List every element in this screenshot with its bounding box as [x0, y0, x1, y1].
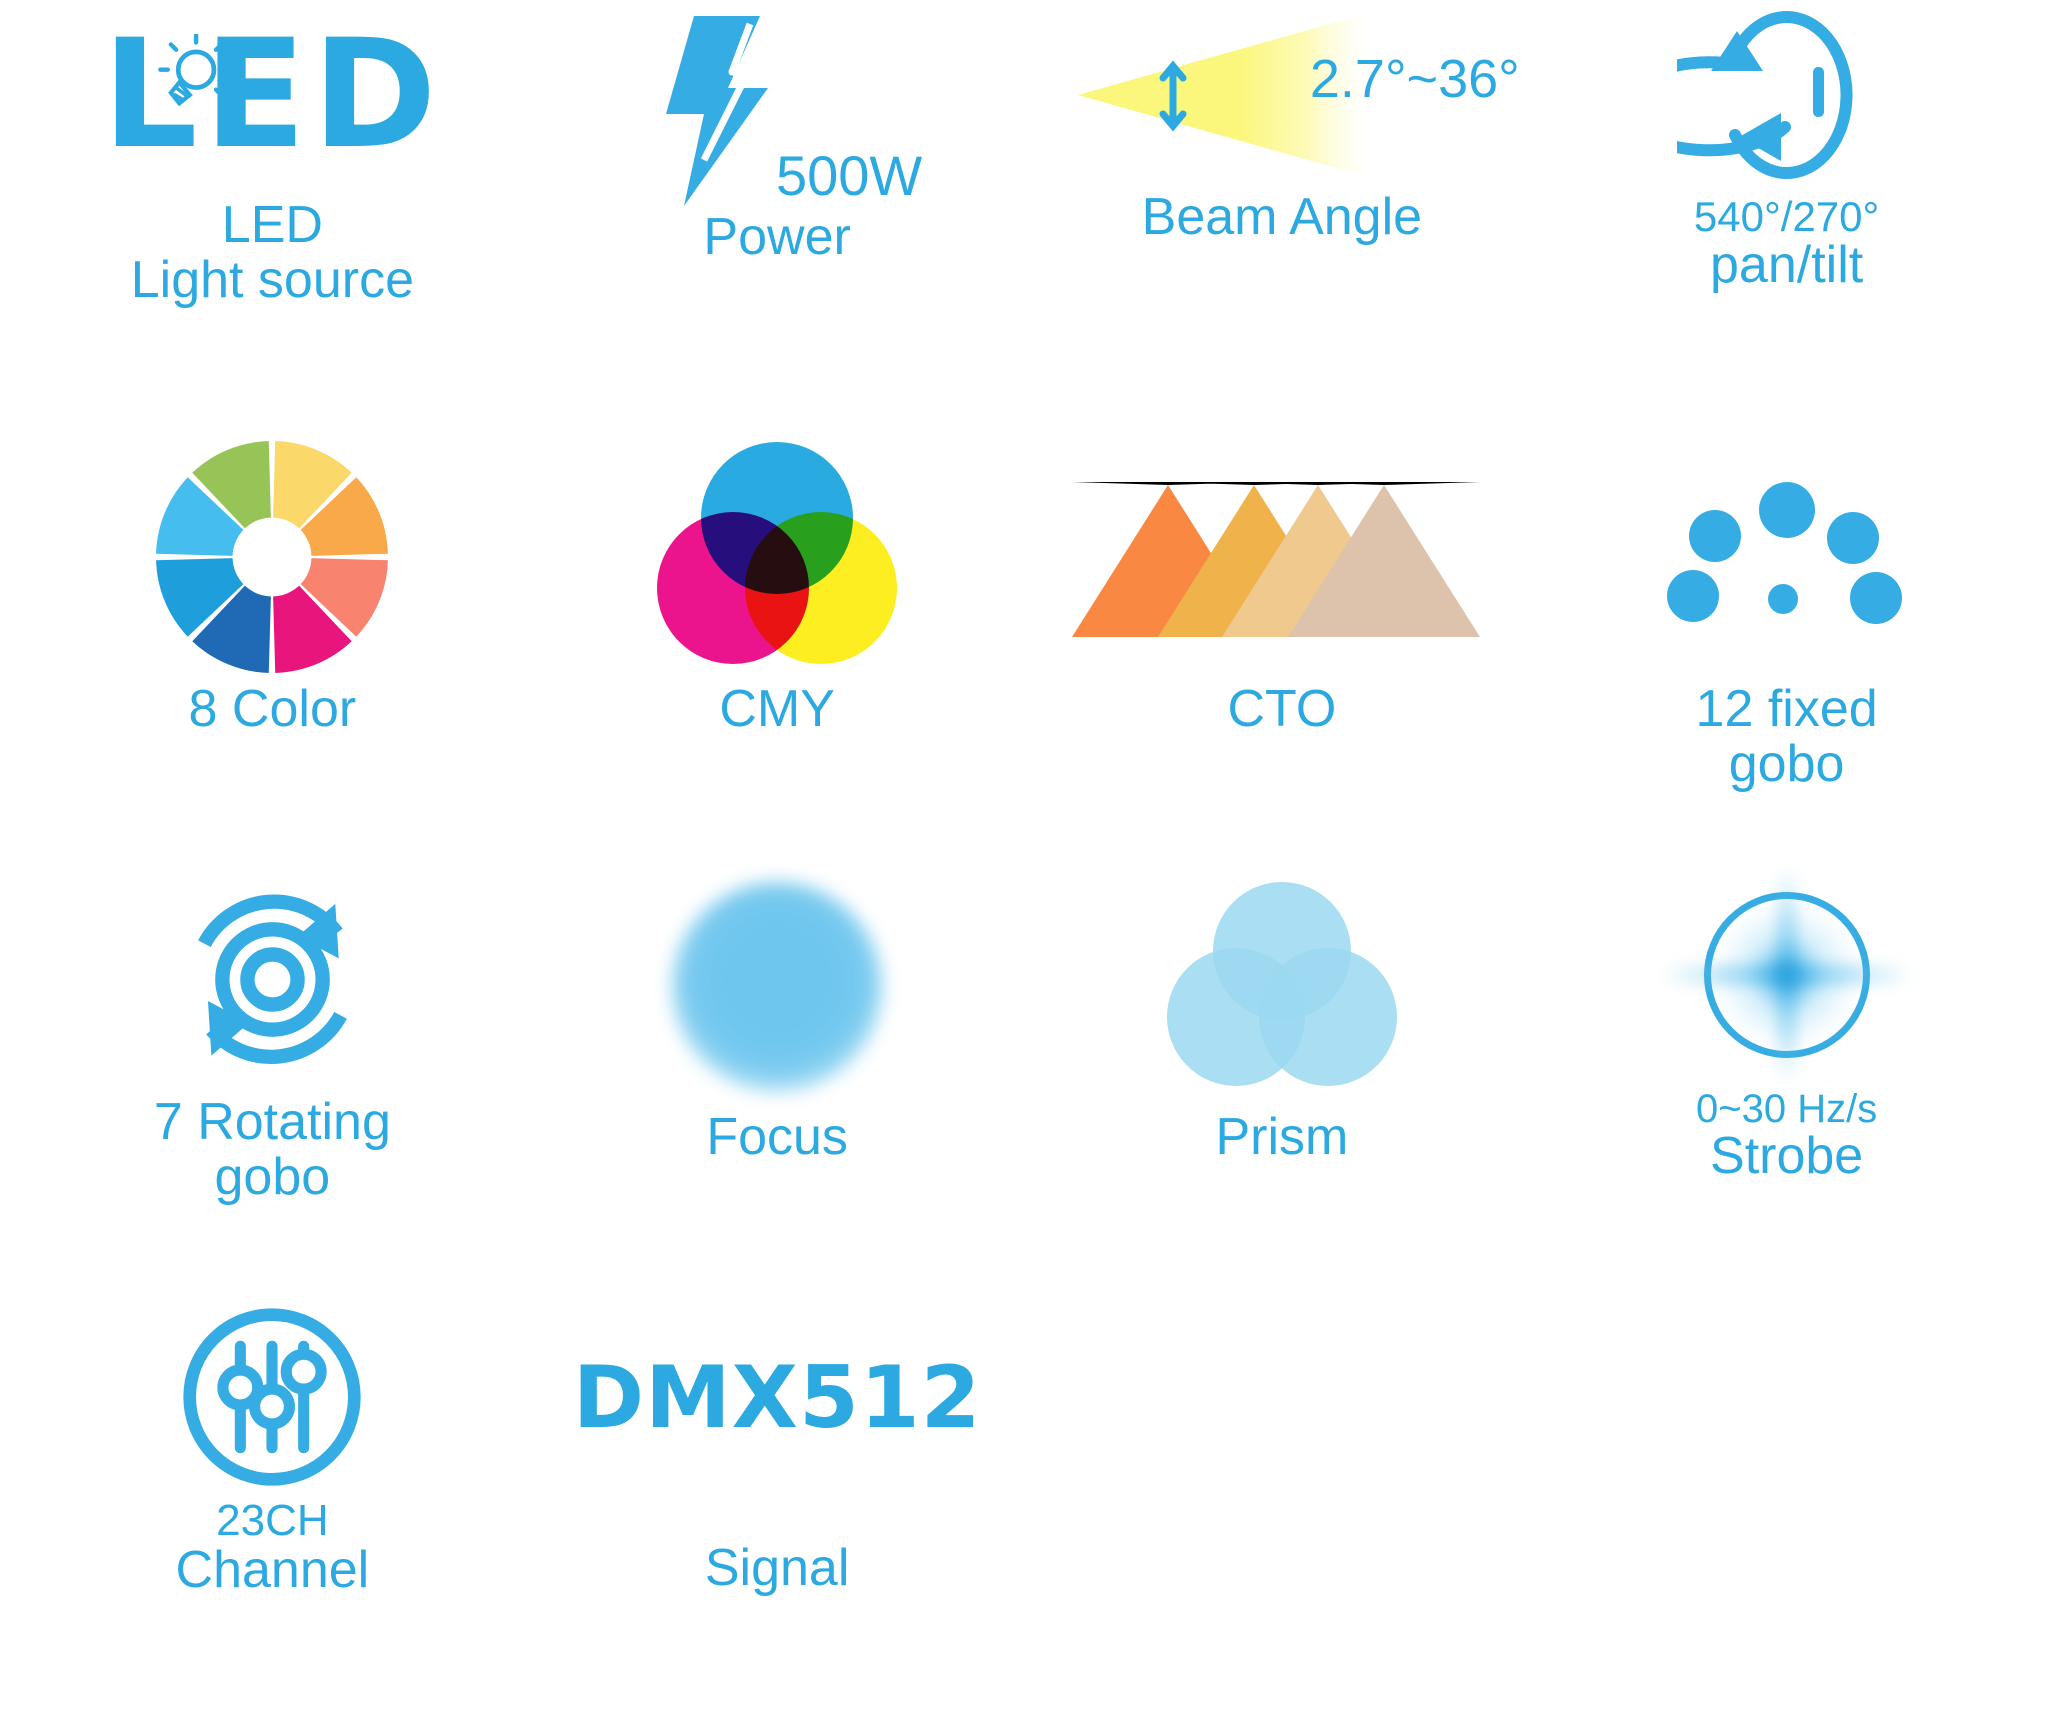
spec-cell-fixed-gobo: 12 fixed gobo	[1534, 432, 2039, 864]
spec-label-prism: Prism	[1215, 1110, 1348, 1165]
spec-cell-rotating-gobo: 7 Rotating gobo	[20, 865, 525, 1297]
spec-cell-color-wheel: 8 Color	[20, 432, 525, 864]
spec-label-cmy: CMY	[719, 682, 835, 737]
spec-label-fixed-gobo: 12 fixed gobo	[1696, 682, 1878, 792]
dmx-text-icon: DMX512	[573, 1355, 982, 1441]
spec-label-pan-tilt: pan/tilt	[1710, 238, 1863, 293]
spec-label-cto: CTO	[1227, 682, 1336, 737]
gobo-dot	[1759, 482, 1815, 538]
strobe-flash-icon	[1672, 875, 1902, 1075]
spec-cell-pan-tilt: 540°/270° pan/tilt	[1534, 0, 2039, 432]
fader-sliders-icon	[177, 1302, 367, 1492]
spec-cell-strobe: 0~30 Hz/s Strobe	[1534, 865, 2039, 1297]
focus-orb-icon	[672, 882, 882, 1092]
spec-cell-cto: CTO	[1030, 432, 1535, 864]
spec-label-channel: Channel	[176, 1543, 370, 1598]
channel-value: 23CH	[216, 1499, 329, 1543]
gobo-dot	[1667, 570, 1719, 622]
spec-label-signal: Signal	[705, 1541, 850, 1596]
strobe-glow	[1712, 900, 1862, 1050]
spec-cell-empty-2	[1534, 1297, 2039, 1729]
spec-label-strobe: Strobe	[1710, 1129, 1863, 1184]
spec-cell-cmy: CMY	[525, 432, 1030, 864]
gobo-dots-icon	[1667, 482, 1907, 632]
spec-cell-focus: Focus	[525, 865, 1030, 1297]
cto-mountains-icon	[1072, 477, 1492, 637]
cto-triangle-4	[1288, 482, 1480, 637]
gobo-dot	[1850, 572, 1902, 624]
rotating-gobo-icon	[165, 872, 380, 1087]
gobo-dot-center	[1768, 584, 1798, 614]
spec-cell-power: 500W Power	[525, 0, 1030, 432]
spec-label-power: Power	[703, 210, 850, 265]
led-logo-icon: LED	[20, 0, 525, 190]
cmy-venn-icon	[657, 442, 897, 672]
spec-label-focus: Focus	[706, 1110, 848, 1165]
spec-cell-signal: DMX512 Signal	[525, 1297, 1030, 1729]
lightbulb-icon	[152, 34, 236, 118]
beam-height-arrow-icon	[1156, 52, 1190, 140]
spec-cell-prism: Prism	[1030, 865, 1535, 1297]
spec-cell-empty-1	[1030, 1297, 1535, 1729]
color-wheel-icon	[156, 441, 388, 673]
lightning-bolt-icon	[632, 10, 782, 210]
spec-cell-beam-angle: 2.7°~36° Beam Angle	[1030, 0, 1535, 432]
gobo-dot	[1827, 512, 1879, 564]
power-value: 500W	[776, 148, 922, 204]
spec-cell-light-source: LED LED Light source	[20, 0, 525, 432]
gobo-dot	[1689, 510, 1741, 562]
spec-cell-channel: 23CH Channel	[20, 1297, 525, 1729]
spec-label-rotating-gobo: 7 Rotating gobo	[154, 1095, 391, 1205]
strobe-value: 0~30 Hz/s	[1696, 1089, 1877, 1129]
prism-circles-icon	[1167, 882, 1397, 1092]
spec-icon-grid: LED LED Light source	[0, 0, 2059, 1729]
spec-label-light-source: LED Light source	[131, 198, 414, 308]
prism-circle-right	[1259, 948, 1397, 1086]
pan-tilt-value: 540°/270°	[1694, 196, 1879, 238]
beam-angle-value: 2.7°~36°	[1310, 52, 1520, 106]
spec-label-color-wheel: 8 Color	[189, 682, 357, 737]
spec-label-beam-angle: Beam Angle	[1142, 190, 1422, 245]
pan-tilt-orbit-icon	[1677, 0, 1897, 195]
cmy-circle-yellow	[745, 512, 897, 664]
